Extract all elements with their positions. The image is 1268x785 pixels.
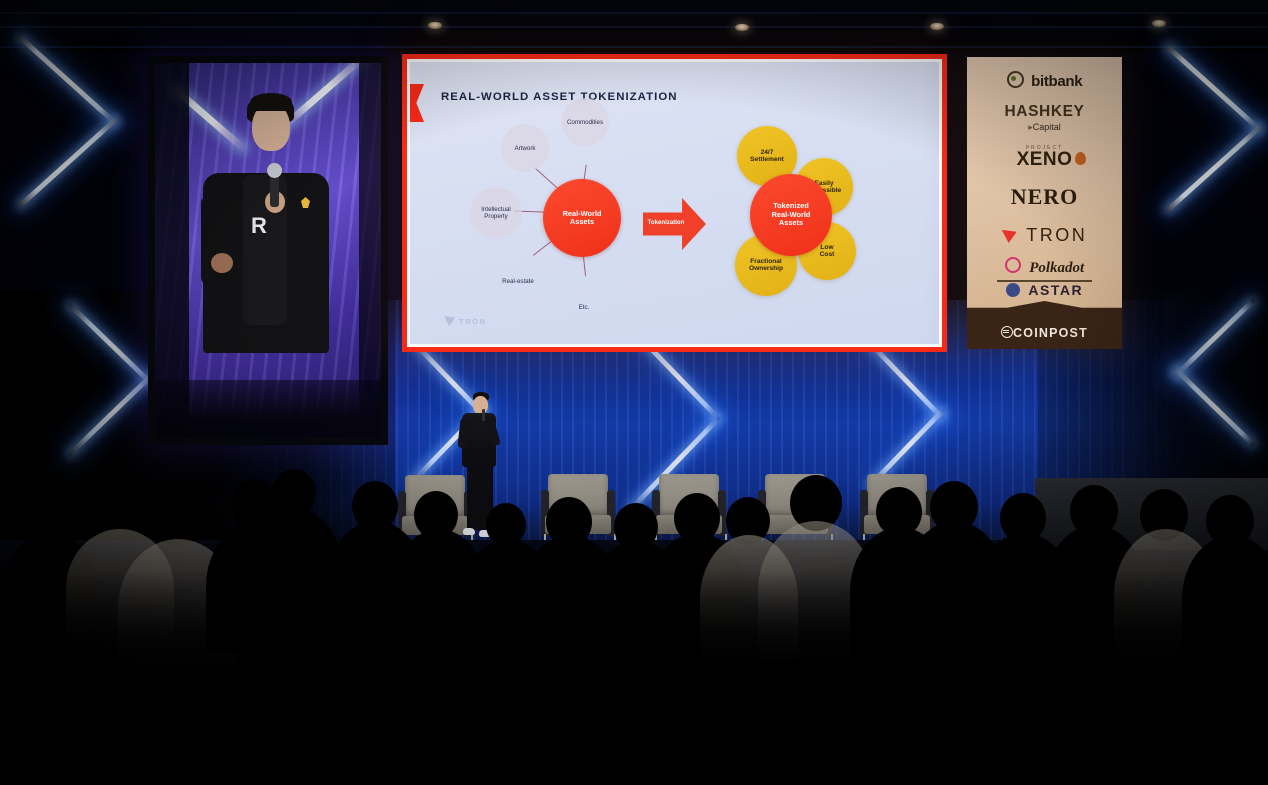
speaker-legs — [467, 464, 491, 530]
polkadot-mark-icon — [1005, 257, 1021, 273]
speaker-shoe — [463, 528, 475, 535]
benefit-label-line2: Ownership — [749, 265, 783, 272]
sponsor-logo-bitbank: bitbank — [967, 71, 1122, 91]
spotlight-fixture — [428, 22, 442, 29]
asset-node-intellectual-property: Intellectual Property — [470, 187, 522, 239]
chair-back — [765, 474, 825, 516]
spotlight-fixture — [1152, 20, 1166, 27]
benefit-label-line1: 24/7 — [761, 149, 774, 156]
benefit-label-line1: Low — [820, 244, 833, 251]
sponsor-logo-xeno: PROJECT XENO — [967, 145, 1122, 171]
sponsor-logo-coinpost: COINPOST — [967, 326, 1122, 340]
speaker-hand-device — [211, 253, 233, 273]
truss-bar — [0, 26, 1268, 28]
asset-node-label-line2: Property — [484, 213, 507, 220]
slide-canvas: REAL-WORLD ASSET TOKENIZATION Commoditie… — [407, 59, 942, 347]
asset-label-etc: Etc. — [564, 304, 604, 311]
sponsor-logo-tron: TRON — [967, 225, 1122, 246]
slide-title: REAL-WORLD ASSET TOKENIZATION — [441, 91, 678, 103]
asset-node-label: Artwork — [515, 145, 536, 152]
sponsor-name: Polkadot — [1029, 260, 1084, 276]
benefit-label-line1: Fractional — [750, 258, 782, 265]
benefit-label-line2: Cost — [820, 251, 835, 258]
chair-seat — [545, 515, 611, 534]
core-node-real-world-assets: Real-World Assets — [543, 179, 621, 257]
sponsor-subname: ▸Capital — [967, 122, 1122, 133]
slide-footer-logo: TRON — [444, 316, 487, 326]
astar-mark-icon — [1006, 283, 1020, 297]
core-node-label-line2: Assets — [570, 218, 594, 226]
video-feed: R — [155, 63, 381, 438]
chair-back — [659, 474, 719, 516]
benefit-label-line2: Settlement — [750, 156, 784, 163]
keynote-speaker — [452, 392, 512, 552]
chair-back — [548, 474, 608, 516]
truss-bar — [0, 46, 1268, 48]
spotlight-fixture — [735, 24, 749, 31]
sponsor-name: bitbank — [1031, 73, 1082, 90]
banner-footer-band — [967, 301, 1122, 349]
chair-seat — [864, 515, 930, 534]
truss-bar — [0, 12, 1268, 14]
tron-logo-icon — [1002, 229, 1017, 243]
microphone — [482, 409, 485, 421]
sponsor-name: XENO — [967, 149, 1122, 171]
sponsor-logo-nero: NERO — [967, 184, 1122, 210]
sponsor-banner: bitbank HASHKEY ▸Capital PROJECT XENO NE… — [967, 57, 1122, 349]
core-node-label-line3: Assets — [779, 219, 803, 227]
asset-node-label: Commodities — [567, 119, 603, 126]
speaker-video-screen: R — [148, 56, 388, 445]
conference-stage-photo: R REAL-WORLD ASSET TOKENIZATION Commodit… — [0, 0, 1268, 785]
presentation-slide-screen: REAL-WORLD ASSET TOKENIZATION Commoditie… — [402, 54, 947, 352]
chair-back — [867, 474, 927, 516]
sponsor-name: HASHKEY — [967, 103, 1122, 121]
sponsor-name: COINPOST — [1013, 326, 1088, 340]
sponsor-name: NERO — [1011, 184, 1079, 209]
sponsor-logo-hashkey: HASHKEY ▸Capital — [967, 103, 1122, 133]
shirt-logo-text: R — [251, 213, 268, 239]
xeno-flame-icon — [1075, 152, 1086, 165]
speaker-head — [473, 396, 488, 414]
tron-logo-text: TRON — [459, 317, 487, 326]
stage-front-edge — [0, 540, 1268, 574]
video-floor-shadow — [155, 380, 381, 438]
tron-logo-icon — [444, 316, 455, 326]
sponsor-name: TRON — [1026, 225, 1087, 245]
sponsor-logo-astar: ASTAR — [967, 282, 1122, 300]
asset-node-label-line1: Intellectual — [481, 206, 511, 213]
core-node-tokenized-real-world-assets: Tokenized Real-World Assets — [750, 174, 832, 256]
tokenization-arrow-label: Tokenization — [644, 219, 688, 226]
speaker-shoe — [479, 530, 491, 537]
asset-label-real-estate: Real-estate — [488, 278, 548, 285]
sponsor-name: ASTAR — [1028, 282, 1083, 298]
speaker-hair-top — [250, 93, 292, 111]
ceiling-truss-area — [0, 0, 1268, 52]
asset-node-artwork: Artwork — [501, 124, 549, 172]
microphone-head — [267, 163, 282, 178]
spotlight-fixture — [930, 23, 944, 30]
chair-seat — [656, 515, 722, 534]
sponsor-logo-polkadot: Polkadot — [967, 257, 1122, 282]
coinpost-mark-icon — [1001, 326, 1013, 338]
slide-accent-notch-icon — [407, 84, 424, 122]
chair-seat — [762, 515, 828, 534]
asset-node-commodities: Commodities — [561, 98, 609, 146]
bitbank-mark-icon — [1007, 71, 1024, 88]
